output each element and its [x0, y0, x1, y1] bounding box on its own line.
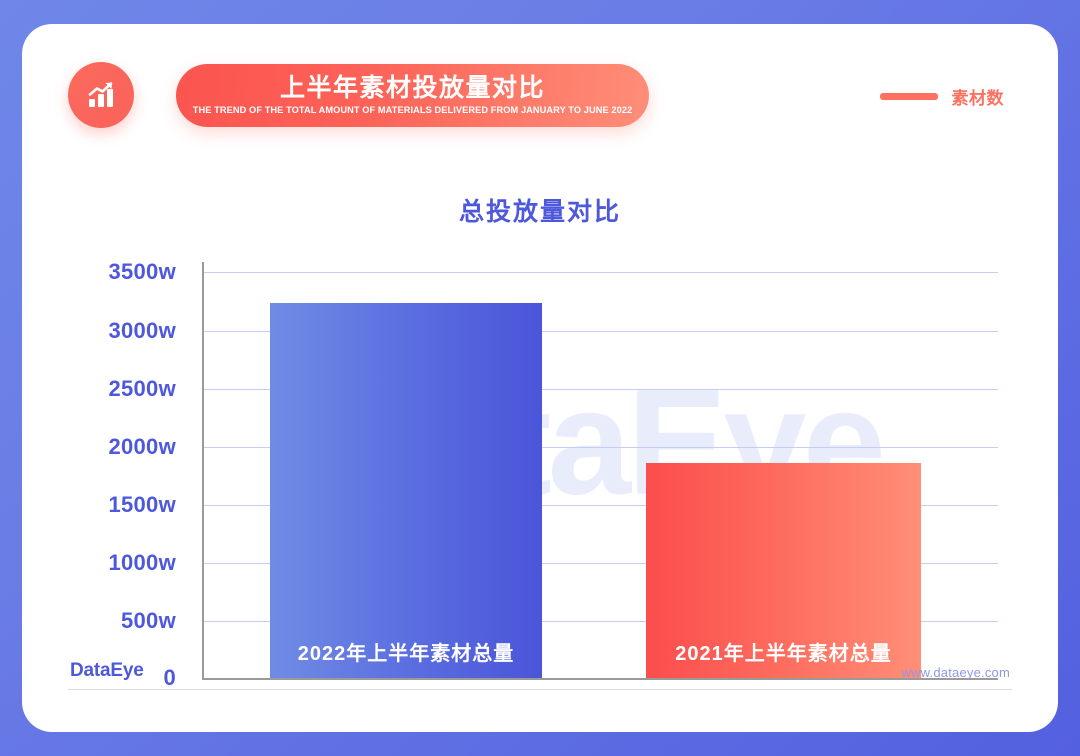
y-tick-label: 2500w [108, 376, 176, 402]
y-tick-label: 1000w [108, 550, 176, 576]
bar-chart-trend-icon [68, 62, 134, 128]
bar-2022[interactable]: 2022年上半年素材总量 [270, 303, 542, 678]
x-axis-line [202, 678, 998, 680]
y-tick-label: 3500w [108, 259, 176, 285]
title-english: THE TREND OF THE TOTAL AMOUNT OF MATERIA… [193, 105, 633, 116]
chart-title: 总投放量对比 [22, 192, 1058, 228]
report-card: 上半年素材投放量对比 THE TREND OF THE TOTAL AMOUNT… [22, 24, 1058, 732]
bar-label: 2021年上半年素材总量 [675, 637, 892, 666]
title-badge: 上半年素材投放量对比 THE TREND OF THE TOTAL AMOUNT… [176, 64, 649, 127]
y-tick-label: 0 [163, 665, 176, 691]
website-url[interactable]: www.dataeye.com [902, 665, 1011, 680]
bar-2021[interactable]: 2021年上半年素材总量 [646, 463, 921, 678]
page-background: 上半年素材投放量对比 THE TREND OF THE TOTAL AMOUNT… [0, 0, 1080, 756]
dataeye-logo: DataEye [70, 660, 144, 682]
y-tick-label: 500w [121, 608, 176, 634]
y-tick-label: 2000w [108, 434, 176, 460]
header: 上半年素材投放量对比 THE TREND OF THE TOTAL AMOUNT… [68, 62, 1012, 132]
legend: 素材数 [880, 84, 1005, 109]
footer-divider [68, 689, 1012, 690]
legend-swatch-icon [880, 93, 938, 100]
legend-label: 素材数 [952, 84, 1005, 109]
y-axis: 3500w 3000w 2500w 2000w 1500w 1000w 500w… [68, 240, 186, 680]
grid-line [202, 272, 998, 273]
y-tick-label: 3000w [108, 318, 176, 344]
title-chinese: 上半年素材投放量对比 [280, 75, 545, 101]
bar-label: 2022年上半年素材总量 [298, 637, 515, 666]
plot-region: DataEye 2022年上半年素材总量 2021年上半年素材总量 [202, 240, 998, 680]
chart-area: 3500w 3000w 2500w 2000w 1500w 1000w 500w… [68, 240, 1008, 680]
y-axis-line [202, 262, 204, 680]
y-tick-label: 1500w [108, 492, 176, 518]
